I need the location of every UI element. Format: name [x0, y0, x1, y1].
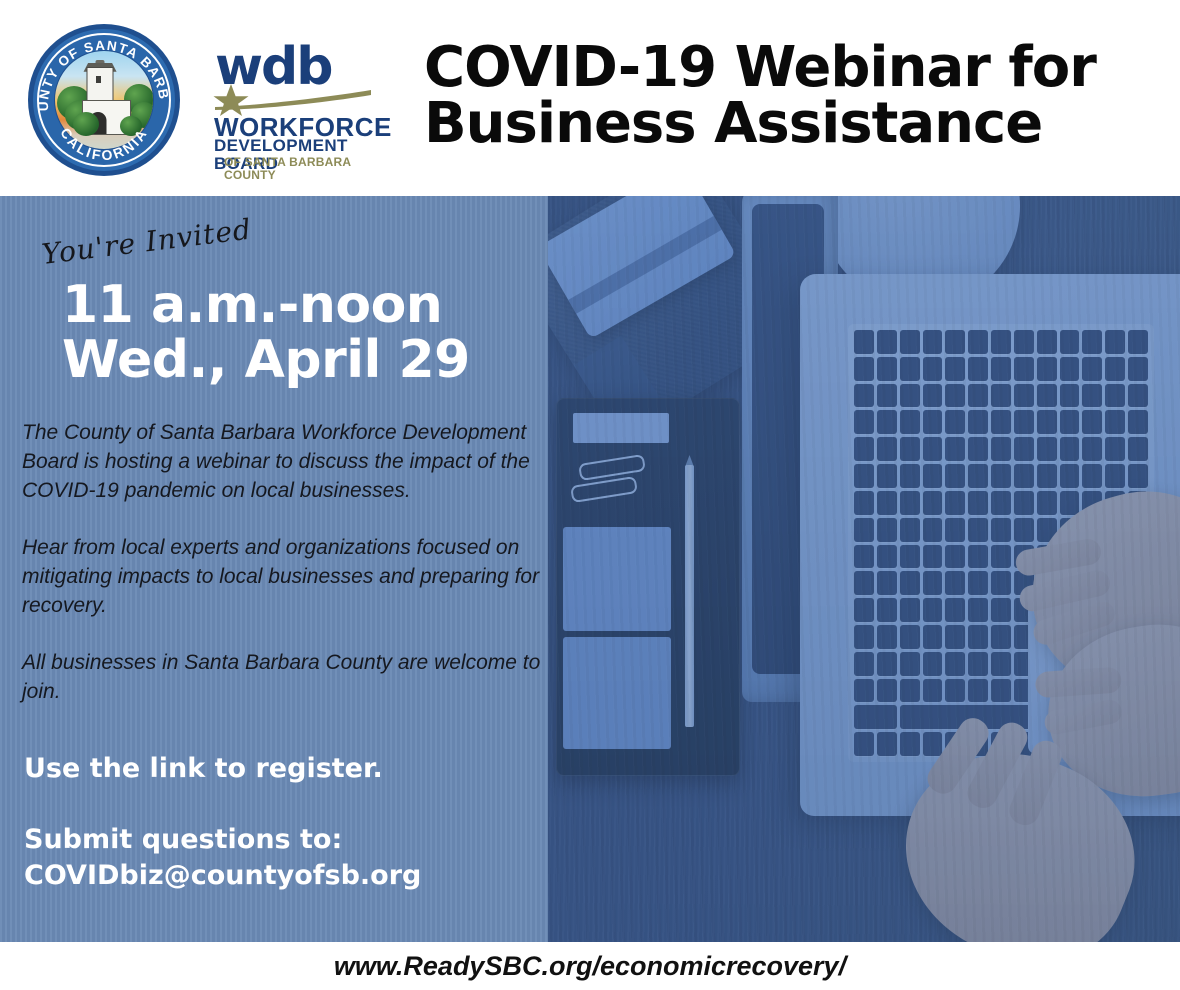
main-content: You're Invited 11 a.m.-noon Wed., April …	[0, 196, 560, 942]
description-block: The County of Santa Barbara Workforce De…	[22, 418, 544, 734]
svg-text:COUNTY OF SANTA BARBARA: COUNTY OF SANTA BARBARA	[28, 24, 172, 111]
wdb-line-county: OF SANTA BARBARA COUNTY	[224, 156, 377, 182]
page-title: COVID-19 Webinar for Business Assistance	[424, 40, 1164, 152]
submit-questions-label: Submit questions to:	[24, 822, 421, 858]
paragraph-1: The County of Santa Barbara Workforce De…	[22, 418, 544, 505]
register-cta: Use the link to register.	[24, 752, 383, 786]
paragraph-2: Hear from local experts and organization…	[22, 533, 544, 620]
seal-band-text: COUNTY OF SANTA BARBARA CALIFORNIA	[28, 24, 180, 176]
event-datetime: 11 a.m.-noon Wed., April 29	[62, 278, 470, 388]
svg-text:CALIFORNIA: CALIFORNIA	[57, 125, 151, 163]
title-line-1: COVID-19 Webinar for	[424, 40, 1164, 96]
event-time: 11 a.m.-noon	[62, 278, 470, 333]
invited-label: You're Invited	[40, 213, 254, 271]
paragraph-3: All businesses in Santa Barbara County a…	[22, 648, 544, 706]
event-date: Wed., April 29	[62, 333, 470, 388]
footer-url-link[interactable]: www.ReadySBC.org/economicrecovery/	[334, 951, 846, 982]
title-line-2: Business Assistance	[424, 96, 1164, 152]
wdb-logo-icon: wdb WORKFORCE DEVELOPMENT BOARD OF SANTA…	[205, 42, 377, 160]
submit-questions-email[interactable]: COVIDbiz@countyofsb.org	[24, 858, 421, 894]
webinar-flyer: COUNTY OF SANTA BARBARA CALIFORNIA wdb	[0, 0, 1180, 990]
submit-questions-block: Submit questions to: COVIDbiz@countyofsb…	[24, 822, 421, 894]
county-seal-icon: COUNTY OF SANTA BARBARA CALIFORNIA	[28, 24, 180, 176]
header-band: COUNTY OF SANTA BARBARA CALIFORNIA wdb	[0, 0, 1180, 196]
footer-band: www.ReadySBC.org/economicrecovery/	[0, 942, 1180, 990]
